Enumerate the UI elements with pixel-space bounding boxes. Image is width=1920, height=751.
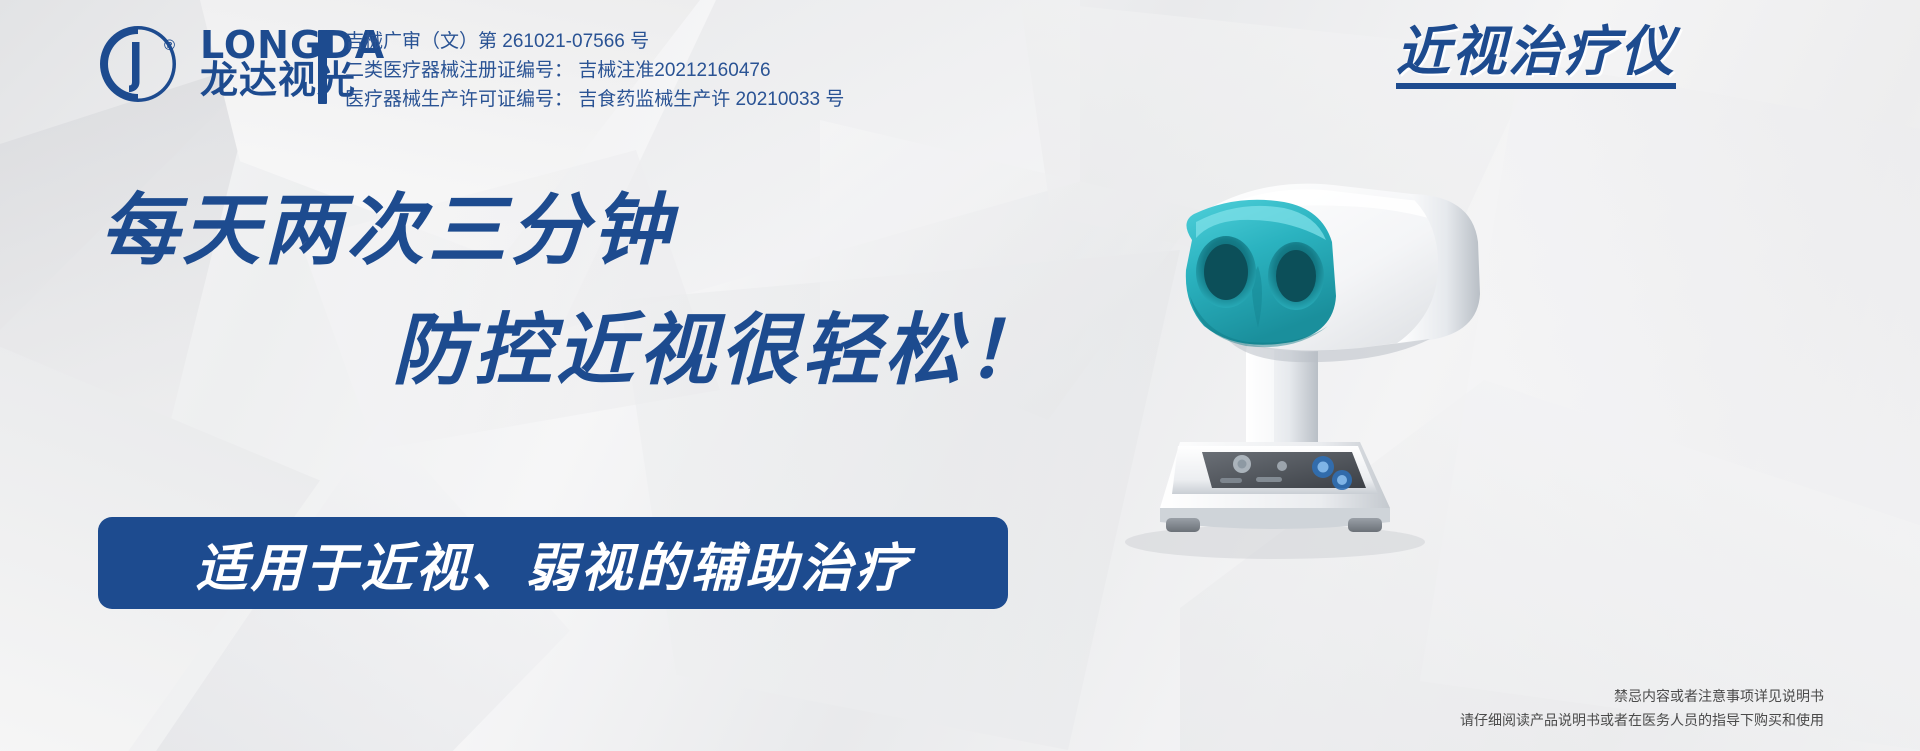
regulatory-info-block: 吉械广审（文）第 261021-07566 号 二类医疗器械注册证编号： 吉械注… <box>318 28 844 115</box>
registered-trademark-icon: ® <box>164 38 175 53</box>
disclaimer-line: 禁忌内容或者注意事项详见说明书 <box>1460 685 1824 709</box>
vertical-blue-bar <box>318 30 327 104</box>
product-title: 近视治疗仪 <box>1396 24 1676 89</box>
myopia-treatment-device-illustration <box>1060 90 1560 570</box>
product-title-underline <box>1396 83 1676 89</box>
longda-eye-logo-icon: ® <box>96 22 180 106</box>
disclaimer-text: 禁忌内容或者注意事项详见说明书 请仔细阅读产品说明书或者在医务人员的指导下购买和… <box>1460 685 1824 733</box>
headline-line-1: 每天两次三分钟 <box>100 168 674 280</box>
disclaimer-line: 请仔细阅读产品说明书或者在医务人员的指导下购买和使用 <box>1460 709 1824 733</box>
regulatory-line: 医疗器械生产许可证编号： 吉食药监械生产许 20210033 号 <box>345 86 844 115</box>
callout-box: 适用于近视、弱视的辅助治疗 <box>98 517 1008 609</box>
advertisement-banner: ® LONGDa 龙达视光 吉械广审（文）第 261021-07566 号 二类… <box>0 0 1920 751</box>
product-title-text: 近视治疗仪 <box>1396 24 1676 81</box>
regulatory-line: 吉械广审（文）第 261021-07566 号 <box>345 28 844 57</box>
regulatory-line: 二类医疗器械注册证编号： 吉械注准20212160476 <box>345 57 844 86</box>
callout-text: 适用于近视、弱视的辅助治疗 <box>195 526 910 601</box>
headline-line-2: 防控近视很轻松！ <box>392 288 1048 400</box>
